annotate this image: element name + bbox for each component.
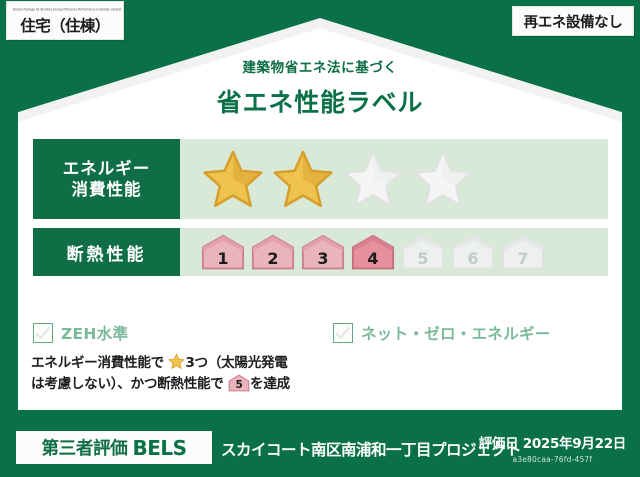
chip-category-label: 住宅（住棟） xyxy=(20,14,109,36)
building-category-chip: Design Package for Building Energy Effic… xyxy=(6,1,124,40)
house-badge-filled: 1 xyxy=(200,233,246,271)
checkbox-icon[interactable] xyxy=(333,323,353,343)
rating-rows: エネルギー 消費性能 断熱性能 1234567 xyxy=(33,139,608,285)
zeh-standard-label: ZEH水準 xyxy=(61,322,128,344)
house-badge-value: 3 xyxy=(300,251,346,267)
star-rating-group xyxy=(180,139,608,219)
renewable-equipment-label: 再エネ設備なし xyxy=(524,11,623,32)
evaluation-date: 評価日 2025年9月22日 xyxy=(479,432,626,452)
house-badge-filled: 3 xyxy=(300,233,346,271)
house-badge-value: 1 xyxy=(200,251,246,267)
house-badge-empty: 6 xyxy=(450,233,496,271)
star-icon-filled xyxy=(202,149,264,209)
zeh-net-zero-label: ネット・ゼロ・エネルギー xyxy=(361,322,551,344)
footer-bar: 第三者評価 BELS スカイコート南区南浦和一丁目プロジェクト 評価日 2025… xyxy=(0,421,640,477)
evaluation-date-value: 2025年9月22日 xyxy=(523,436,626,452)
desc-part4: を達成 xyxy=(250,376,290,392)
checkbox-icon[interactable] xyxy=(33,323,53,343)
house-badge-empty: 7 xyxy=(500,233,546,271)
evaluation-id: a3e80caa-76fd-457f xyxy=(479,455,626,464)
renewable-equipment-chip: 再エネ設備なし xyxy=(512,6,634,36)
bels-brand-label: BELS xyxy=(132,436,186,460)
star-icon-empty xyxy=(412,149,474,209)
chip-micro-text: Design Package for Building Energy Effic… xyxy=(7,8,121,13)
title-block: 建築物省エネ法に基づく 省エネ性能ラベル xyxy=(0,56,640,119)
house-badge-value: 4 xyxy=(350,251,396,267)
house-badge-value: 5 xyxy=(228,380,250,391)
star-icon xyxy=(168,353,185,369)
zeh-criteria-row: ZEH水準 ネット・ゼロ・エネルギー xyxy=(33,322,608,344)
desc-part3: は考慮しない）、かつ断熱性能で xyxy=(31,376,224,392)
zeh-criterion-standard: ZEH水準 xyxy=(33,322,333,344)
star-icon-filled xyxy=(272,149,334,209)
row-label-insulation-performance: 断熱性能 xyxy=(33,228,180,276)
energy-performance-label: Design Package for Building Energy Effic… xyxy=(0,0,640,477)
insulation-badge-group: 1234567 xyxy=(180,228,608,276)
star-icon-empty xyxy=(342,149,404,209)
row-label-energy-consumption: エネルギー 消費性能 xyxy=(33,139,180,219)
house-badge-icon: 5 xyxy=(228,374,250,392)
house-badge-filled: 2 xyxy=(250,233,296,271)
bels-prefix-label: 第三者評価 xyxy=(41,435,127,460)
row-label-line2: 消費性能 xyxy=(72,179,142,200)
bels-certification-badge: 第三者評価 BELS xyxy=(16,431,212,464)
house-badge-value: 7 xyxy=(500,251,546,267)
house-badge-filled: 4 xyxy=(350,233,396,271)
desc-part2: 3つ（太陽光発電 xyxy=(185,355,287,371)
house-badge-value: 6 xyxy=(450,251,496,267)
project-name: スカイコート南区南浦和一丁目プロジェクト xyxy=(221,438,521,460)
house-badge-value: 5 xyxy=(400,251,446,267)
row-energy-consumption: エネルギー 消費性能 xyxy=(33,139,608,219)
evaluation-info: 評価日 2025年9月22日 a3e80caa-76fd-457f xyxy=(479,432,626,464)
desc-part1: エネルギー消費性能で xyxy=(31,355,164,371)
page-title: 省エネ性能ラベル xyxy=(0,83,640,119)
zeh-criterion-net-zero: ネット・ゼロ・エネルギー xyxy=(333,322,551,344)
row-insulation-performance: 断熱性能 1234567 xyxy=(33,228,608,276)
title-subtitle: 建築物省エネ法に基づく xyxy=(0,56,640,76)
criteria-description: エネルギー消費性能で 3つ（太陽光発電 は考慮しない）、かつ断熱性能で 5 を達… xyxy=(31,353,331,395)
house-badge-empty: 5 xyxy=(400,233,446,271)
evaluation-date-label: 評価日 xyxy=(479,436,519,452)
house-badge-value: 2 xyxy=(250,251,296,267)
row-label-line1: エネルギー xyxy=(63,159,151,179)
